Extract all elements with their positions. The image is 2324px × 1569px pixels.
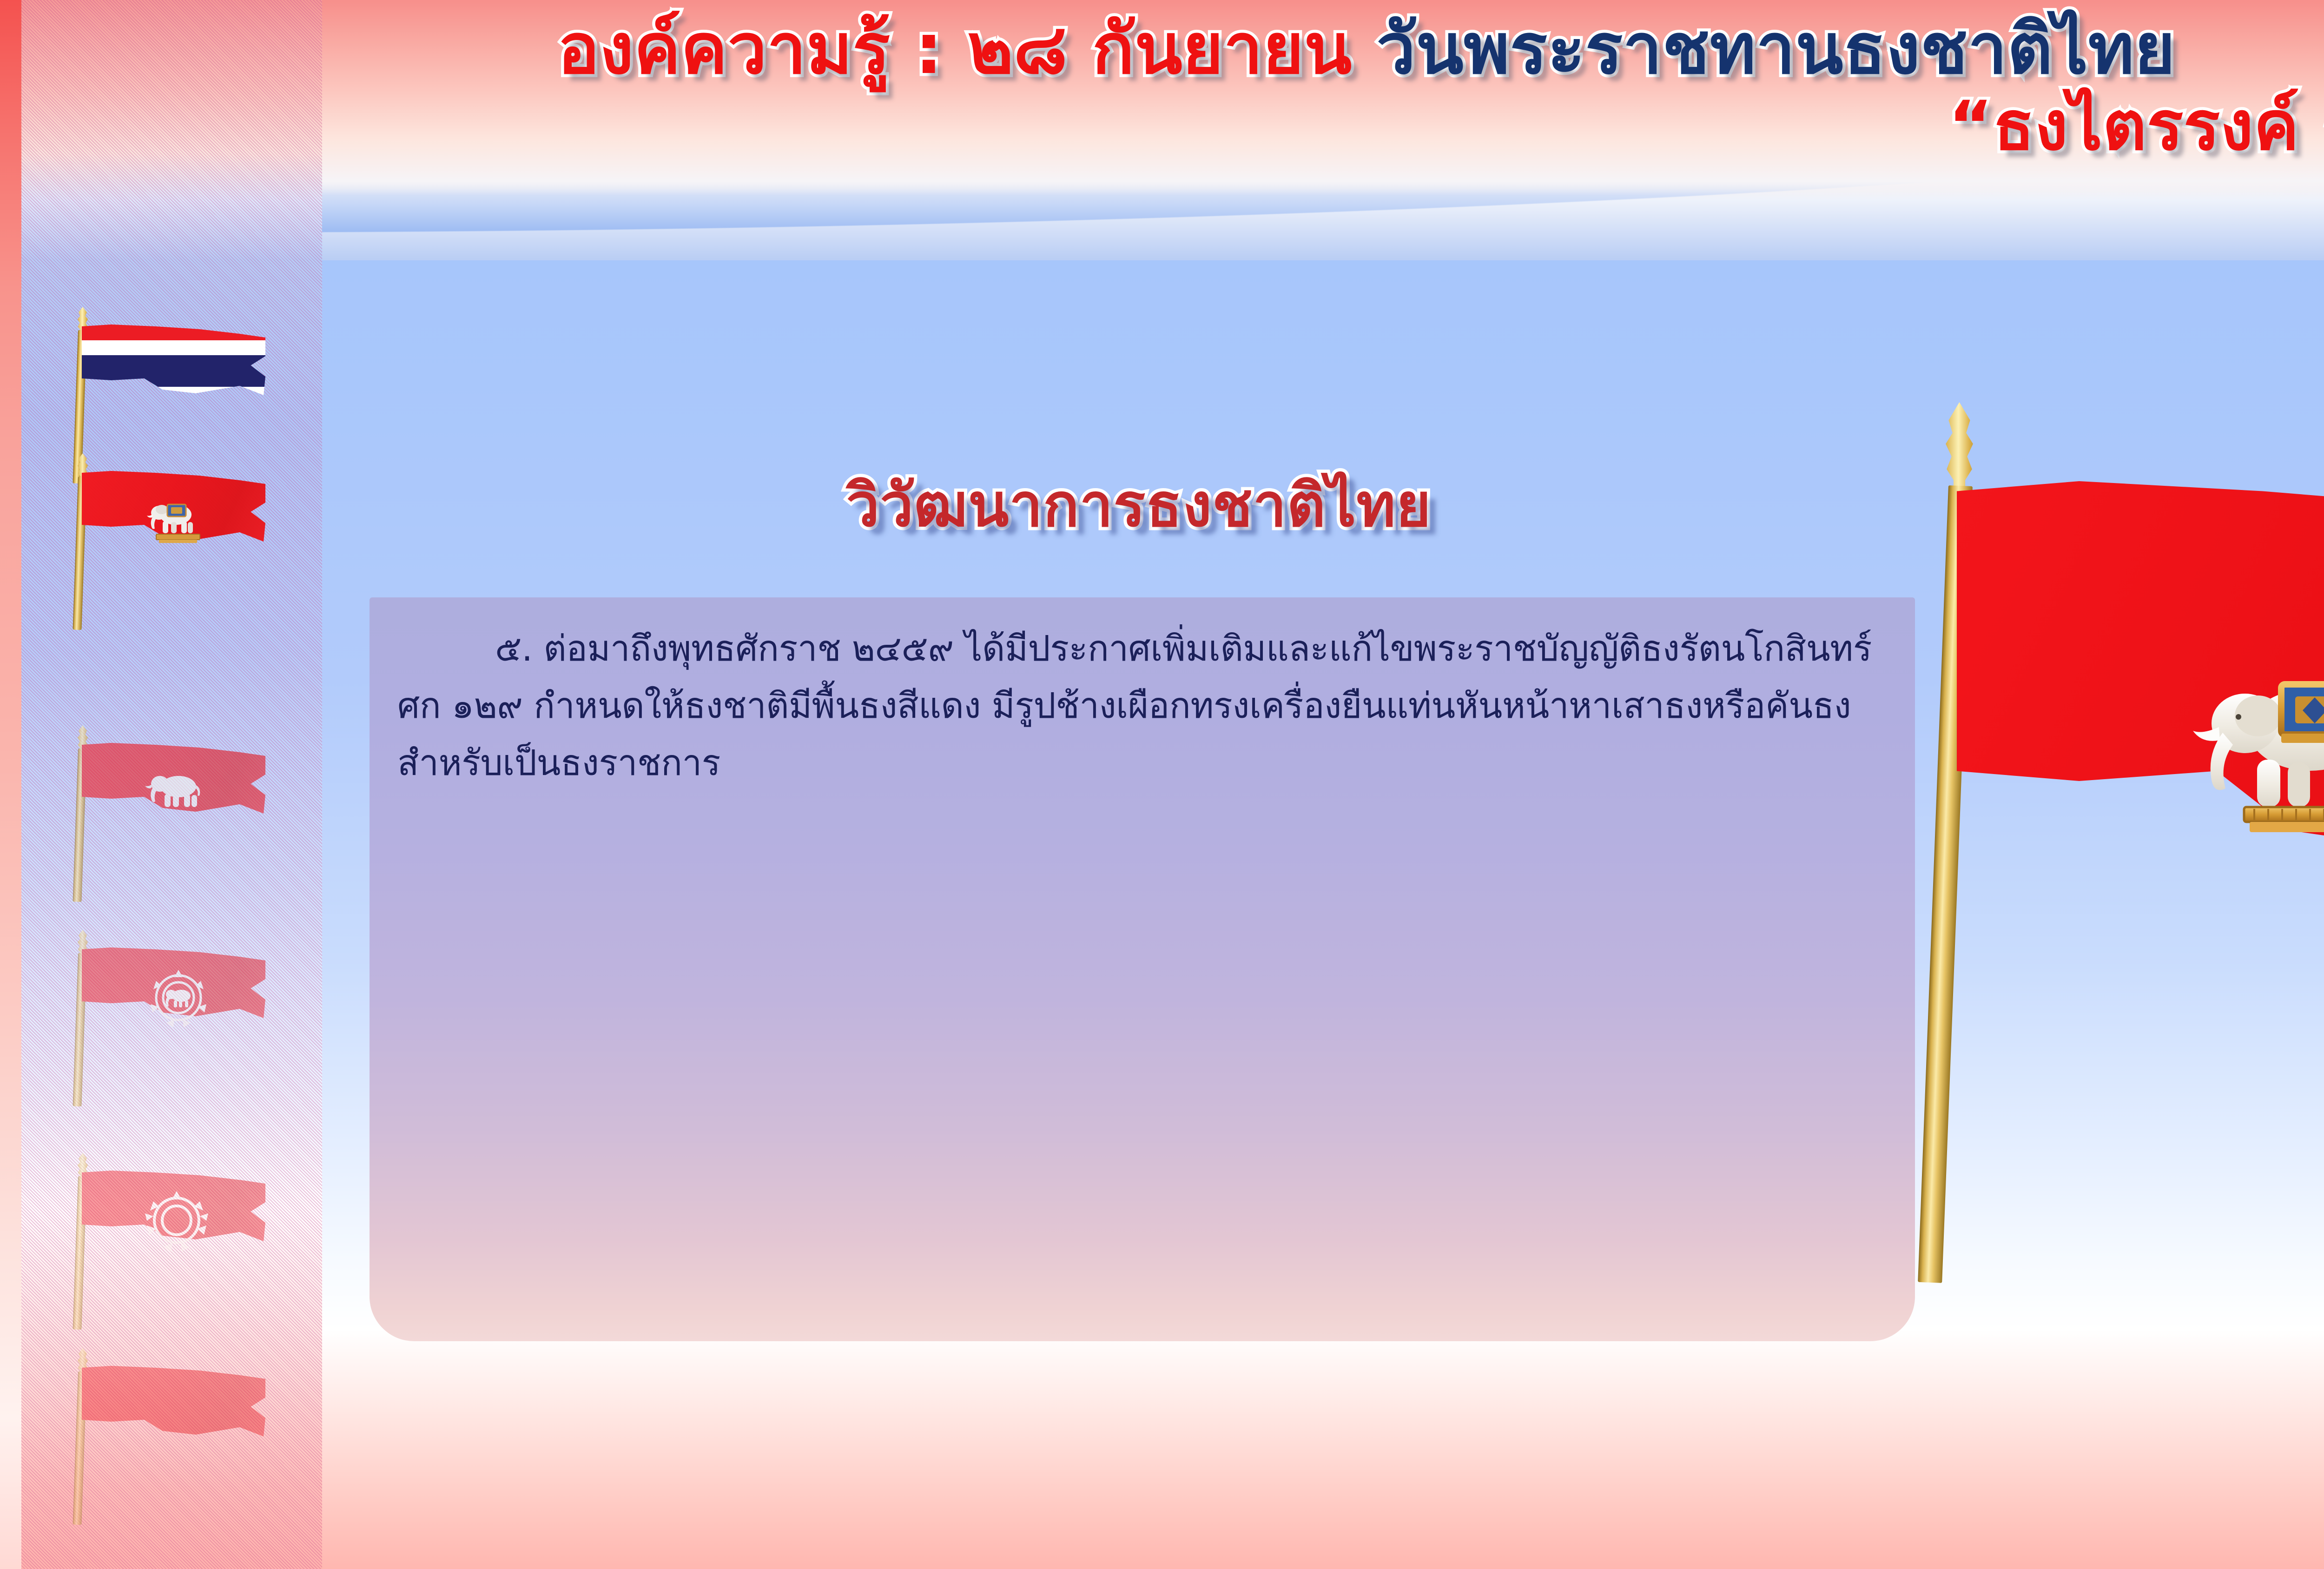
sidebar-item-flag-red-elephant-chakra [51,930,270,1106]
section-heading: วิวัฒนาการธงชาติไทย [600,458,1678,552]
elephant-in-chakra-wreath-icon [142,965,215,1030]
poster-title: องค์ความรู้ : ๒๘ กันยายน วันพระราชทานธงช… [0,13,2324,165]
sidebar-item-flag-red-plain-elephant [51,725,270,902]
background-left-red-strip [0,0,21,1569]
title-line-1: องค์ความรู้ : ๒๘ กันยายน วันพระราชทานธงช… [0,13,2324,86]
poster-canvas: องค์ความรู้ : ๒๘ กันยายน วันพระราชทานธงช… [0,0,2324,1569]
flagpole-finial-icon [1935,402,1984,493]
content-panel: ๕. ต่อมาถึงพุทธศักราช ๒๔๕๙ ได้มีประกาศเพ… [370,597,1915,1341]
body-paragraph: ๕. ต่อมาถึงพุทธศักราช ๒๔๕๙ ได้มีประกาศเพ… [397,620,1887,791]
title-line-1-navy-part: วันพระราชทานธงชาติไทย [1376,9,2175,90]
chakra-wreath-icon [139,1187,214,1253]
flag-field-red [82,1366,265,1459]
thai-tricolour-stripes [82,324,265,417]
flag-cloth-tricolour [82,324,265,417]
sidebar-item-flag-red-plain [51,1348,270,1525]
main-flag-royal-service [1868,402,2324,1299]
white-elephant-on-pedestal-icon [142,494,212,544]
white-elephant-plain-icon [142,768,212,813]
sidebar-item-flag-red-chakra [51,1153,270,1330]
sidebar-item-flag-red-elephant-caparisoned [51,453,270,630]
content-panel-text: ๕. ต่อมาถึงพุทธศักราช ๒๔๕๙ ได้มีประกาศเพ… [397,620,1887,791]
white-elephant-on-pedestal-icon [2171,642,2324,837]
flag-cloth-red [82,1366,265,1459]
title-line-2: “ธงไตรรงค์ ธงชาติไทย” [0,88,2324,165]
title-line-1-red-part: องค์ความรู้ : ๒๘ กันยายน [558,9,1377,90]
